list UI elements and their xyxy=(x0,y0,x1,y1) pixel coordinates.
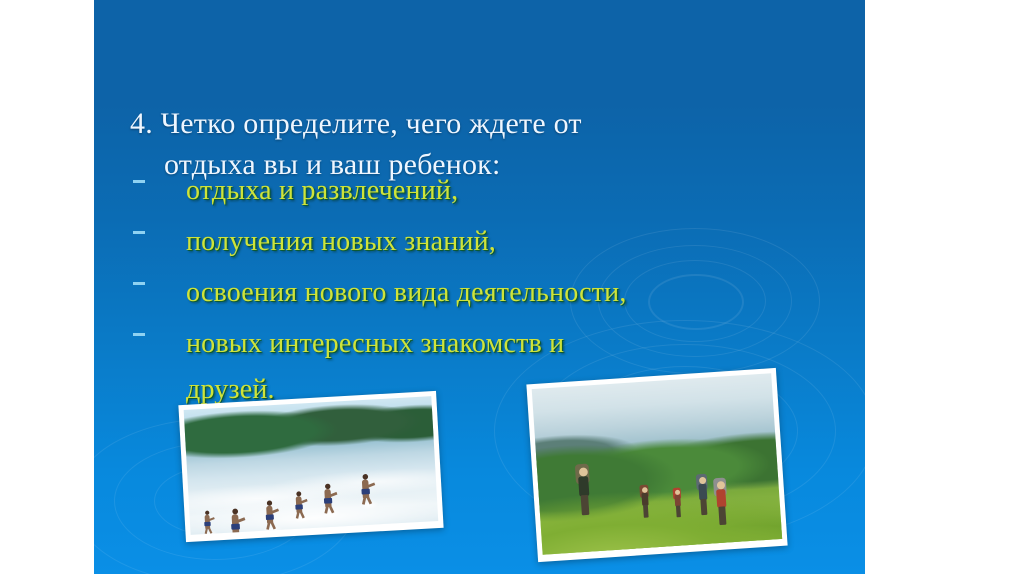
list-item: получения новых знаний, xyxy=(130,219,830,269)
beach-photo xyxy=(178,391,443,542)
slide-canvas: 4. Четко определите, чего ждете от отдых… xyxy=(0,0,1024,574)
presentation-slide: 4. Четко определите, чего ждете от отдых… xyxy=(94,0,865,574)
dash-bullet-icon xyxy=(133,333,145,336)
title-line-1: 4. Четко определите, чего ждете от xyxy=(130,107,582,140)
bullet-text: отдыха и развлечений, xyxy=(186,168,830,214)
bullet-text: освоения нового вида деятельности, xyxy=(186,270,830,316)
beach-photo-image xyxy=(184,396,439,535)
list-item: освоения нового вида деятельности, xyxy=(130,270,830,320)
hikers-photo-image xyxy=(532,373,782,555)
hikers-photo xyxy=(526,368,787,562)
dash-bullet-icon xyxy=(133,231,145,234)
list-item: отдыха и развлечений, xyxy=(130,168,830,218)
dash-bullet-icon xyxy=(133,180,145,183)
dash-bullet-icon xyxy=(133,282,145,285)
bullet-text: получения новых знаний, xyxy=(186,219,830,265)
